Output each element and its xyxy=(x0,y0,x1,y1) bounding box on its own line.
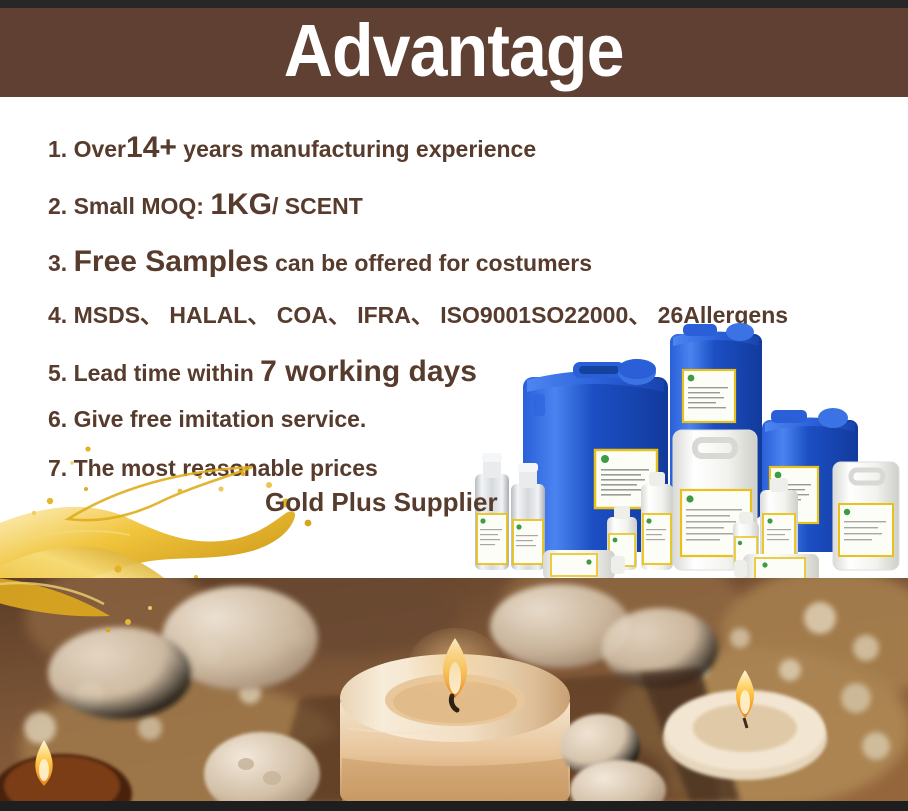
white-bottle-lying-2 xyxy=(734,554,819,578)
list-item: 3. Free Samples can be offered for costu… xyxy=(48,247,592,277)
candle-photo xyxy=(0,578,908,801)
list-item-emphasis: 7 working days xyxy=(260,355,477,388)
list-item: 1. Over14+ years manufacturing experienc… xyxy=(48,133,536,163)
list-item-text: Small MOQ: xyxy=(74,193,204,219)
page-title: Advantage xyxy=(284,11,624,95)
content-panel: 1. Over14+ years manufacturing experienc… xyxy=(0,97,908,578)
white-jerrycan-right xyxy=(833,462,899,570)
list-item-number: 7. xyxy=(48,455,67,481)
top-accent-strip xyxy=(0,0,908,8)
white-bottle-lying-1 xyxy=(543,550,625,578)
supplier-badge: Gold Plus Supplier xyxy=(265,487,498,518)
product-group-image xyxy=(455,322,908,578)
advantage-banner: Advantage xyxy=(0,0,908,811)
list-item-emphasis: Free Samples xyxy=(74,245,269,278)
white-bottle-medium-1 xyxy=(641,472,673,570)
list-item: 5. Lead time within 7 working days xyxy=(48,357,477,387)
list-item-text: Give free imitation service. xyxy=(74,406,367,432)
list-item-number: 5. xyxy=(48,360,67,386)
list-item-text: The most reasonable prices xyxy=(74,455,378,481)
list-item: 6. Give free imitation service. xyxy=(48,408,366,431)
list-item-number: 3. xyxy=(48,250,67,276)
bottom-accent-strip xyxy=(0,801,908,811)
list-item-number: 6. xyxy=(48,406,67,432)
list-item: 2. Small MOQ: 1KG/ SCENT xyxy=(48,190,363,220)
list-item-emphasis: 1KG xyxy=(210,188,272,221)
list-item-text: Over xyxy=(74,136,126,162)
list-item-text-after: can be offered for costumers xyxy=(275,250,592,276)
list-item-text-after: / SCENT xyxy=(272,193,363,219)
list-item-text: Lead time within xyxy=(74,360,254,386)
list-item-emphasis: 14+ xyxy=(126,131,177,164)
list-item: 7. The most reasonable prices xyxy=(48,457,378,480)
list-item-text-after: years manufacturing experience xyxy=(183,136,536,162)
list-item-number: 4. xyxy=(48,302,67,328)
list-item-number: 2. xyxy=(48,193,67,219)
header-band: Advantage xyxy=(0,8,908,97)
list-item-number: 1. xyxy=(48,136,67,162)
